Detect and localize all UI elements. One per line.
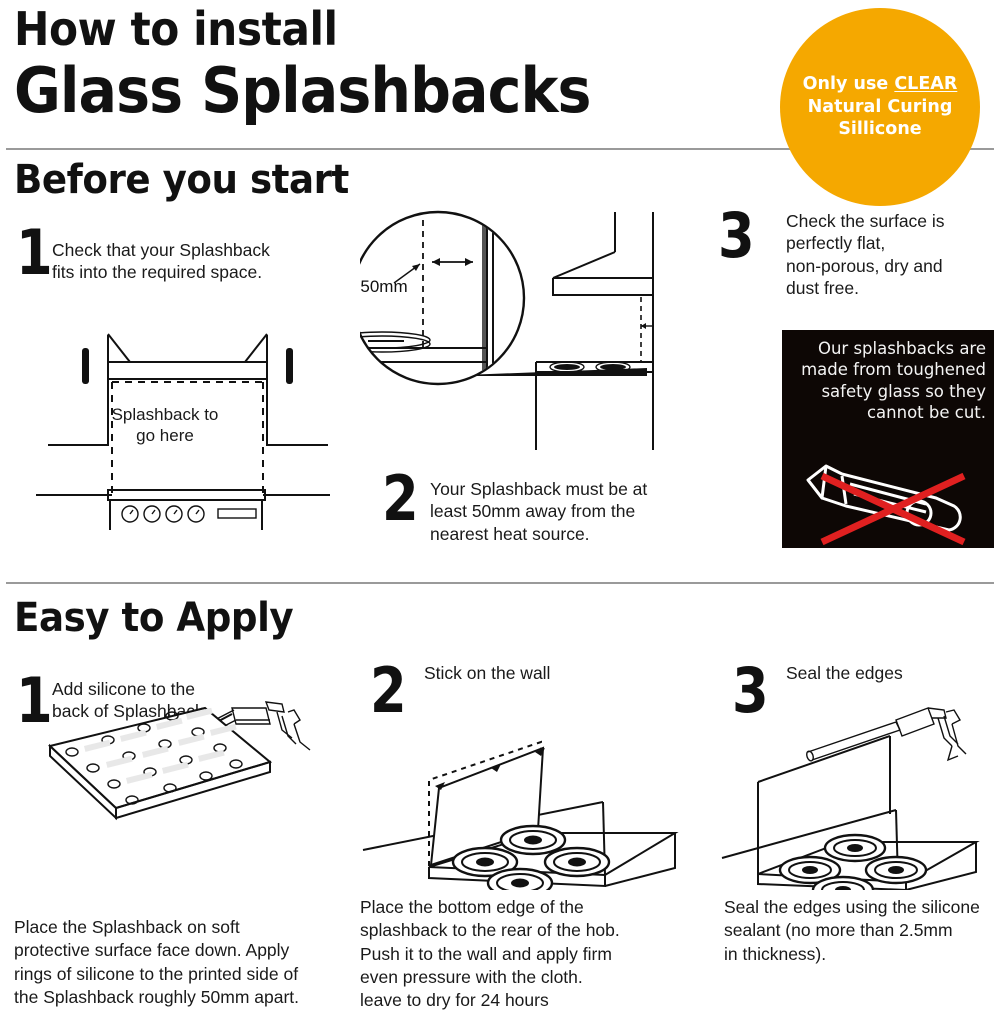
infographic-page: How to install Glass Splashbacks Only us…	[0, 0, 1000, 1000]
page-title-line1: How to install	[14, 6, 338, 52]
diagram-label-splashback-here: Splashback to go here	[100, 404, 230, 447]
step-number-before-1: 1	[16, 222, 53, 284]
diagram-label-50mm: 50mm	[360, 277, 407, 296]
caption-apply-1: Place the Splashback on soft protective …	[14, 916, 344, 1009]
step-text-before-3: Check the surface is perfectly flat, non…	[786, 210, 1000, 300]
badge-line1-prefix: Only use	[803, 74, 895, 94]
warning-panel-cannot-be-cut: Our splashbacks are made from toughened …	[782, 330, 994, 548]
step-number-before-2: 2	[382, 468, 419, 530]
step-number-before-3: 3	[718, 205, 755, 267]
section-heading-easy-to-apply: Easy to Apply	[14, 598, 293, 638]
no-cutting-knife-icon	[786, 450, 990, 546]
divider-middle	[6, 582, 994, 584]
section-heading-before-you-start: Before you start	[14, 160, 349, 200]
step-text-apply-3: Seal the edges	[786, 662, 1000, 684]
badge-line3: Sillicone	[838, 119, 921, 139]
badge-line2: Natural Curing	[808, 97, 953, 117]
diagram-silicone-rings-on-glass	[20, 690, 340, 880]
diagram-seal-the-edges	[700, 690, 1000, 890]
page-title-line2: Glass Splashbacks	[14, 60, 591, 122]
badge-line1-emphasis: CLEAR	[894, 74, 957, 94]
step-text-before-1: Check that your Splashback fits into the…	[52, 239, 342, 284]
caption-apply-3: Seal the edges using the silicone sealan…	[724, 896, 994, 966]
step-text-apply-2: Stick on the wall	[424, 662, 674, 684]
clear-silicone-badge: Only use CLEAR Natural Curing Sillicone	[780, 8, 980, 206]
warning-panel-text: Our splashbacks are made from toughened …	[790, 338, 986, 424]
diagram-50mm-clearance: 50mm	[360, 200, 690, 450]
caption-apply-2: Place the bottom edge of the splashback …	[360, 896, 680, 1012]
step-text-before-2: Your Splashback must be at least 50mm aw…	[430, 478, 710, 545]
diagram-stick-on-wall	[355, 690, 705, 890]
badge-text: Only use CLEAR Natural Curing Sillicone	[797, 73, 964, 140]
